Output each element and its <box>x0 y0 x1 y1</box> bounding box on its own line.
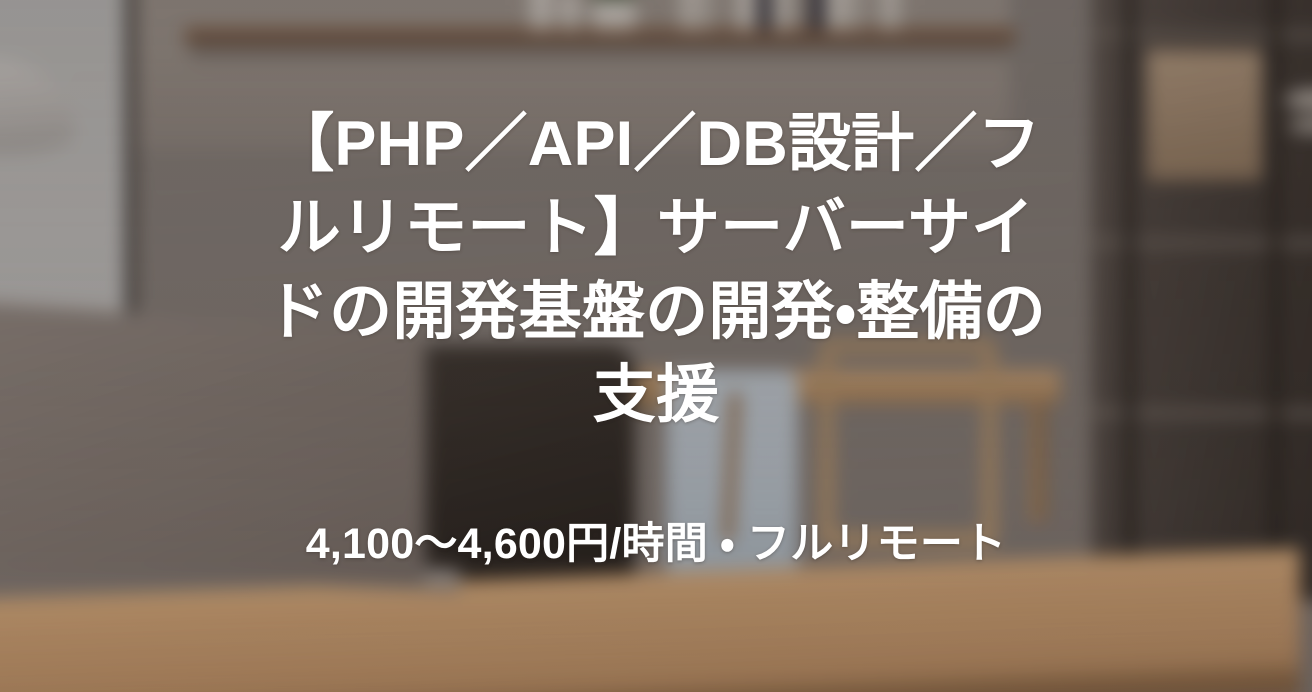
job-title-headline: 【PHP／API／DB設計／フルリモート】サーバーサイドの開発基盤の開発・整備の… <box>256 0 1056 438</box>
job-posting-banner: 【PHP／API／DB設計／フルリモート】サーバーサイドの開発基盤の開発・整備の… <box>0 0 1312 692</box>
rate-and-workstyle-subtitle: 4,100〜4,600円/時間 ・ フルリモート <box>206 438 1106 573</box>
banner-text-layer: 【PHP／API／DB設計／フルリモート】サーバーサイドの開発基盤の開発・整備の… <box>0 0 1312 692</box>
